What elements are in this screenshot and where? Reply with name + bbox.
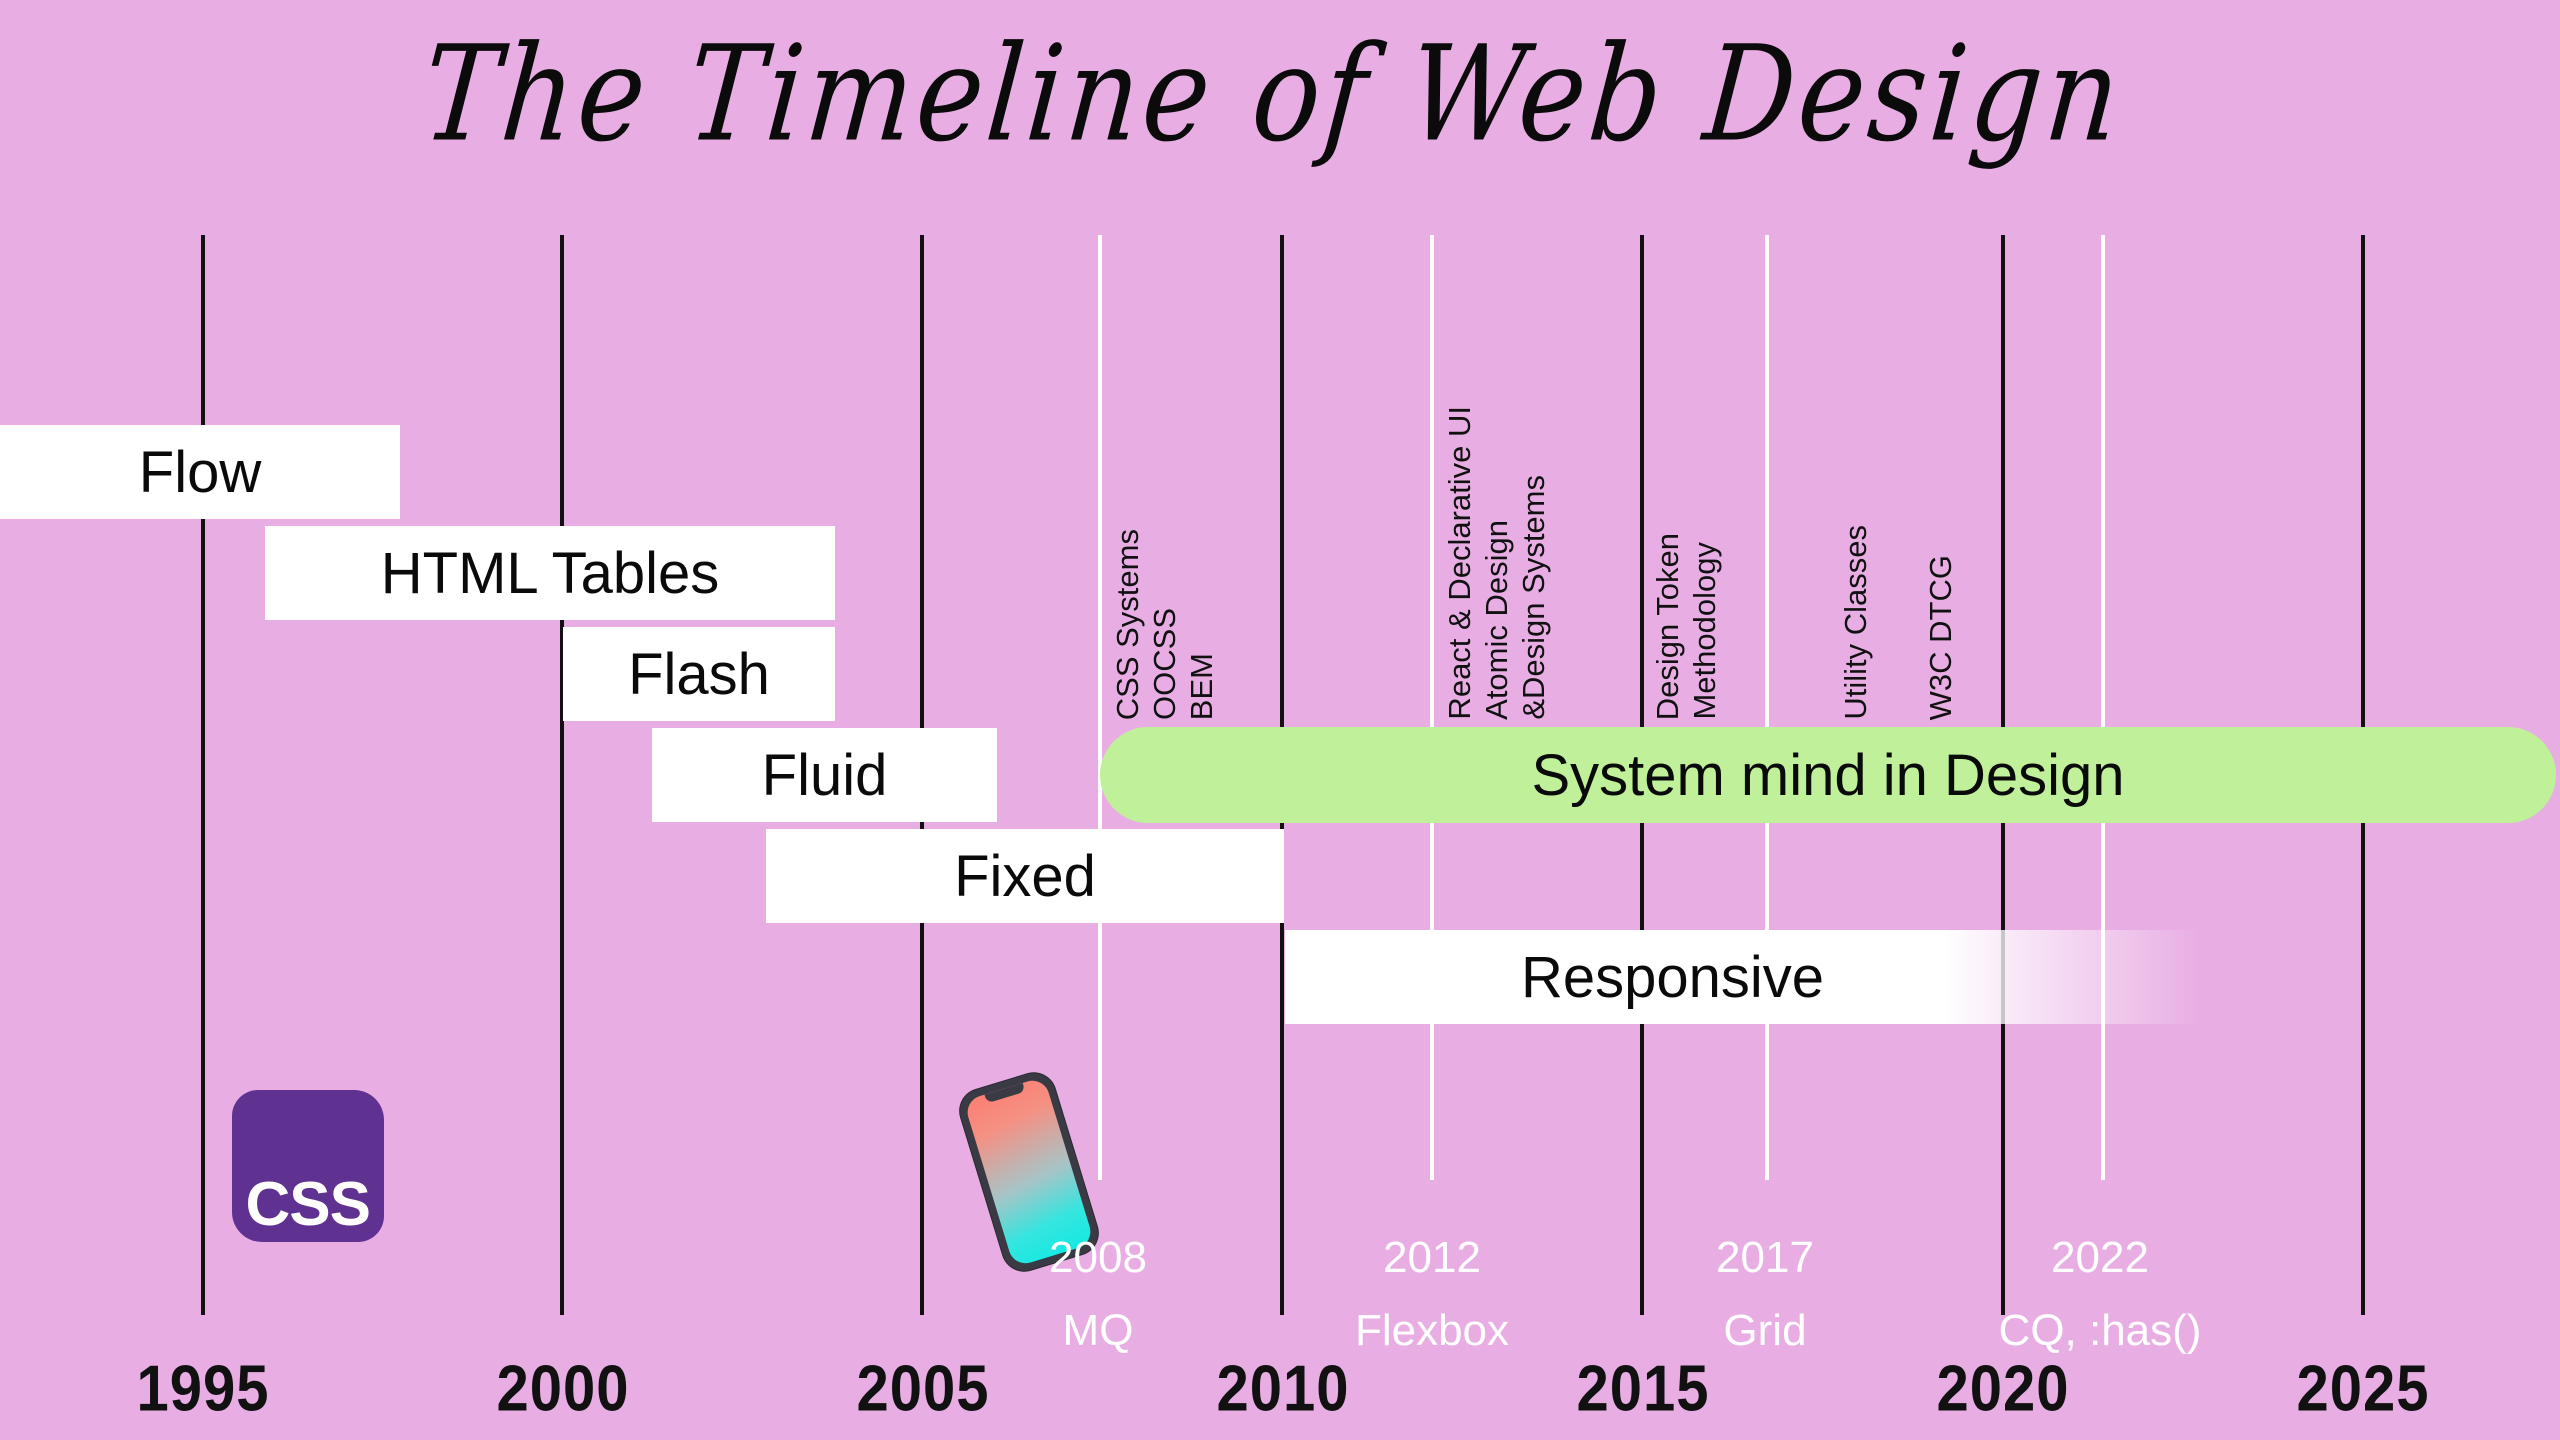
milestone-2008: 2008 MQ [1049,1222,1147,1367]
page-title: The Timeline of Web Design [0,18,2560,171]
milestone-2012-tech: Flexbox [1355,1295,1509,1368]
milestone-2008-year: 2008 [1049,1222,1147,1295]
milestone-2012: 2012 Flexbox [1355,1222,1509,1367]
era-bar-system-mind[interactable]: System mind in Design [1100,727,2556,823]
gridline-milestone-2008 [1098,235,1102,1180]
axis-label-2000: 2000 [496,1351,629,1426]
annotation-design-systems: &Design Systems [1518,475,1549,720]
era-bar-fluid[interactable]: Fluid [652,728,997,822]
era-bar-flash[interactable]: Flash [563,627,835,721]
axis-label-2020: 2020 [1936,1351,2069,1426]
era-bar-fixed-label: Fixed [954,843,1096,910]
axis-label-2005: 2005 [856,1351,989,1426]
annotation-utility-classes: Utility Classes [1840,525,1871,720]
annotation-design-token: Design Token [1652,533,1683,720]
gridline-milestone-2017 [1765,235,1769,1180]
milestone-2012-year: 2012 [1355,1222,1509,1295]
era-bar-flow[interactable]: Flow [0,425,400,519]
annotation-oocss: OOCSS [1149,608,1180,720]
milestone-2008-tech: MQ [1049,1295,1147,1368]
annotation-bem: BEM [1186,653,1217,720]
css-logo-icon: CSS [232,1090,384,1242]
axis-label-1995: 1995 [136,1351,269,1426]
annotation-group-2017: Design Token Methodology [1652,450,1726,720]
milestone-2017-year: 2017 [1716,1222,1814,1295]
timeline-canvas: The Timeline of Web Design Flow HTML Tab… [0,0,2560,1440]
gridline-milestone-2022 [2101,235,2105,1180]
era-bar-responsive[interactable]: Responsive [1285,930,2200,1024]
era-bar-flow-label: Flow [139,439,261,506]
gridline-2000 [560,235,564,1315]
milestone-2022: 2022 CQ, :has() [1999,1222,2202,1367]
era-bar-system-mind-label: System mind in Design [1531,742,2124,809]
css-logo-text: CSS [246,1174,370,1236]
annotation-group-2012: React & Declarative UI Atomic Design &De… [1444,320,1555,720]
era-bar-html-tables[interactable]: HTML Tables [265,526,835,620]
era-bar-responsive-label: Responsive [1521,944,1824,1011]
annotation-w3c-dtcg: W3C DTCG [1925,555,1956,720]
annotation-methodology: Methodology [1689,542,1720,720]
annotation-atomic-design: Atomic Design [1481,520,1512,720]
era-bar-fixed[interactable]: Fixed [766,829,1284,923]
axis-label-2025: 2025 [2296,1351,2429,1426]
gridline-1995 [201,235,205,1315]
annotation-css-systems: CSS Systems [1112,529,1143,720]
annotation-react-declarative-ui: React & Declarative UI [1444,406,1475,720]
annotation-group-2008: CSS Systems OOCSS BEM [1112,460,1223,720]
milestone-2017-tech: Grid [1716,1295,1814,1368]
era-bar-html-tables-label: HTML Tables [381,540,719,607]
era-bar-fluid-label: Fluid [762,742,888,809]
milestone-2017: 2017 Grid [1716,1222,1814,1367]
gridline-milestone-2012 [1430,235,1434,1180]
era-bar-flash-label: Flash [628,641,770,708]
axis-label-2010: 2010 [1216,1351,1349,1426]
phone-notch [984,1083,1025,1103]
axis-label-2015: 2015 [1576,1351,1709,1426]
milestone-2022-year: 2022 [1999,1222,2202,1295]
annotation-group-2020: Utility Classes W3C DTCG [1840,450,1962,720]
